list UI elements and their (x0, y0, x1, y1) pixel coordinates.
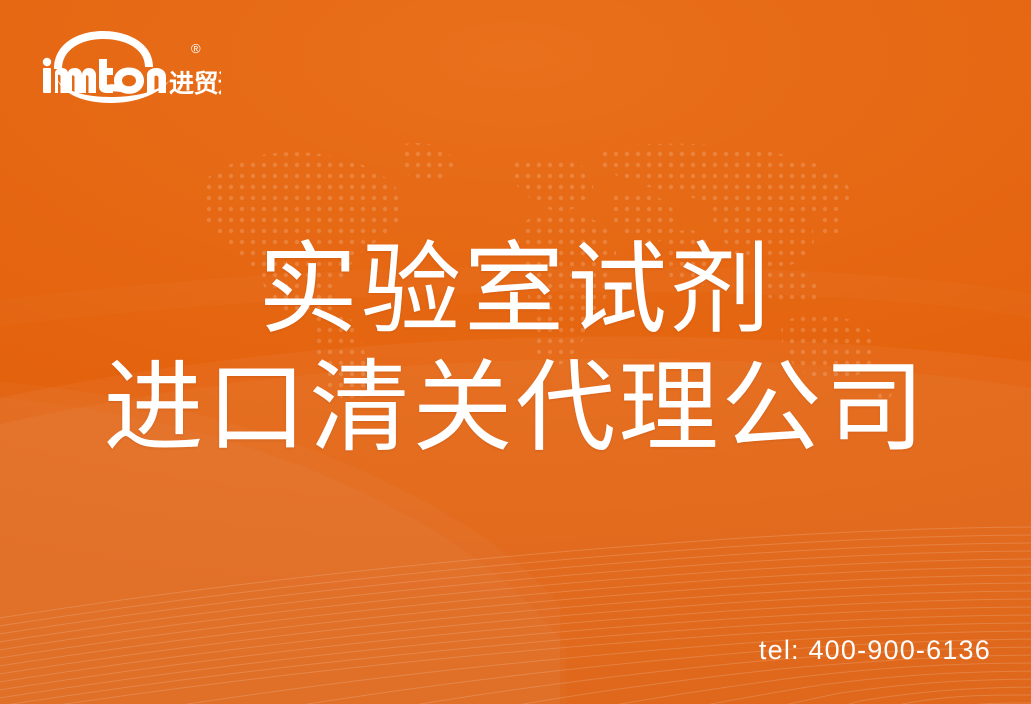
registered-trademark-symbol: ® (191, 42, 201, 55)
page-title: 实验室试剂 进口清关代理公司 (0, 231, 1031, 467)
headline-line-1: 实验室试剂 (0, 231, 1031, 349)
svg-text:进贸通: 进贸通 (169, 70, 221, 98)
diagonal-line-hatch (0, 469, 1031, 704)
telephone-label[interactable]: tel: 400-900-6136 (759, 637, 991, 664)
wordmark-chinese: 进贸通 (169, 70, 221, 98)
promo-banner: 进贸通 ® 实验室试剂 进口清关代理公司 tel: 400-900-6136 (0, 0, 1031, 704)
headline-line-2: 进口清关代理公司 (0, 349, 1031, 467)
brand-logo[interactable]: 进贸通 ® (41, 31, 221, 107)
